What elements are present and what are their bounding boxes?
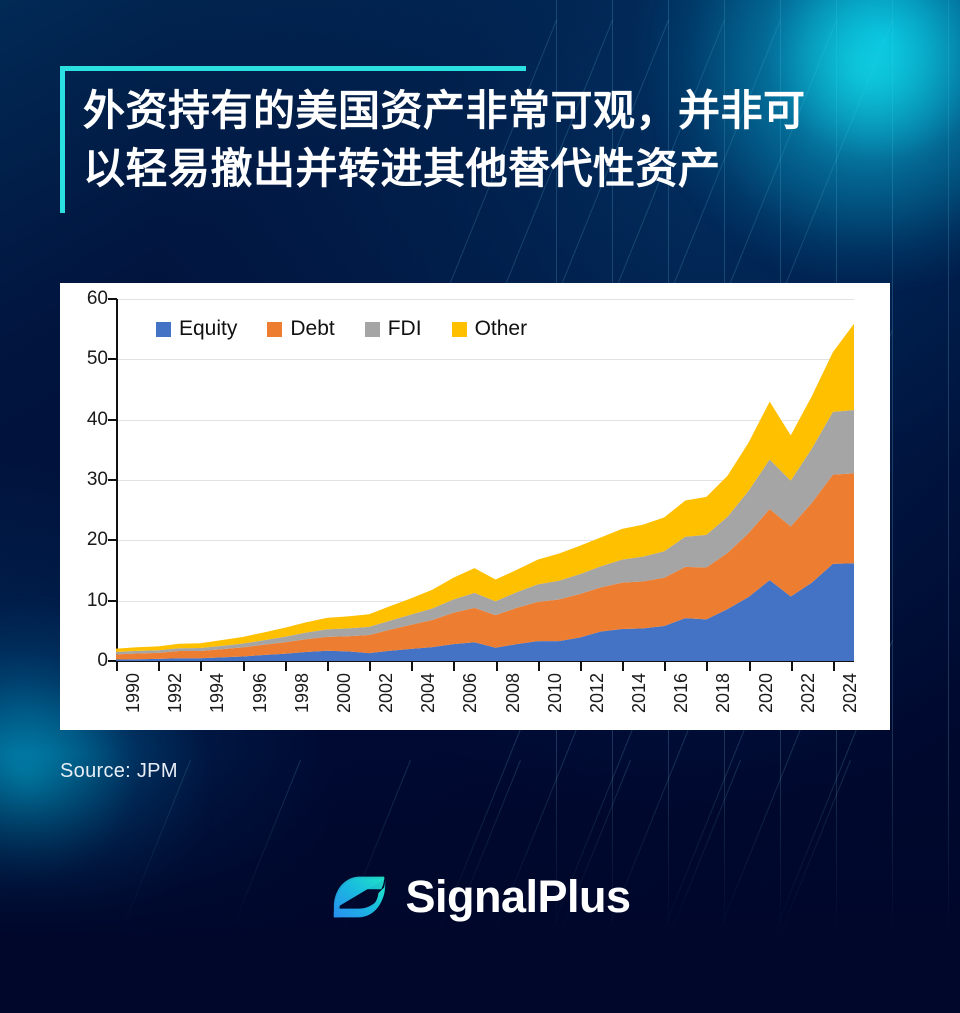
source-note: Source: JPM — [60, 760, 178, 783]
x-axis-tick — [749, 662, 751, 671]
x-axis-tick-label: 1998 — [292, 673, 313, 713]
brand-name: SignalPlus — [405, 871, 630, 923]
y-axis-tick-label: 60 — [87, 288, 108, 310]
page-title: 外资持有的美国资产非常可观，并非可 以轻易撤出并转进其他替代性资产 — [60, 66, 905, 198]
x-axis-tick — [158, 662, 160, 671]
poster-root: 外资持有的美国资产非常可观，并非可 以轻易撤出并转进其他替代性资产 Equity… — [0, 0, 960, 1013]
x-axis-labels: 1990199219941996199820002002200420062008… — [116, 673, 854, 729]
x-axis-tick — [791, 662, 793, 671]
x-axis-tick-label: 1990 — [123, 673, 144, 713]
x-axis-tick-label: 2020 — [756, 673, 777, 713]
chart-card: EquityDebtFDIOther 0102030405060 1990199… — [60, 283, 890, 730]
x-axis-tick — [453, 662, 455, 671]
x-axis-tick — [538, 662, 540, 671]
stacked-area-chart — [116, 299, 854, 661]
brand-logo: SignalPlus — [0, 866, 960, 928]
x-axis-tick-label: 1992 — [165, 673, 186, 713]
y-axis-tick-label: 10 — [87, 590, 108, 612]
x-axis-tick — [327, 662, 329, 671]
x-axis-tick-label: 2018 — [713, 673, 734, 713]
x-axis-tick-label: 2016 — [671, 673, 692, 713]
headline-block: 外资持有的美国资产非常可观，并非可 以轻易撤出并转进其他替代性资产 — [60, 66, 905, 198]
x-axis-tick — [664, 662, 666, 671]
y-axis-tick-label: 50 — [87, 348, 108, 370]
x-axis-tick-label: 2006 — [460, 673, 481, 713]
x-axis-tick-label: 1996 — [250, 673, 271, 713]
x-axis-tick — [369, 662, 371, 671]
x-axis-tick — [496, 662, 498, 671]
x-axis-tick-label: 1994 — [207, 673, 228, 713]
x-axis-tick — [706, 662, 708, 671]
x-axis-tick-label: 2004 — [418, 673, 439, 713]
x-axis-tick — [285, 662, 287, 671]
x-axis-tick — [622, 662, 624, 671]
y-axis-labels: 0102030405060 — [60, 299, 108, 661]
signalplus-wave-logo-icon — [329, 866, 391, 928]
y-axis-tick-label: 40 — [87, 409, 108, 431]
x-axis-tick-label: 2022 — [798, 673, 819, 713]
x-axis-tick-label: 2024 — [840, 673, 861, 713]
x-axis-tick — [833, 662, 835, 671]
x-axis-ticks — [116, 662, 854, 671]
x-axis-tick — [411, 662, 413, 671]
x-axis-tick-label: 2000 — [334, 673, 355, 713]
y-axis-tick-label: 0 — [97, 650, 108, 672]
x-axis-tick — [243, 662, 245, 671]
y-axis-tick-label: 20 — [87, 529, 108, 551]
x-axis-tick — [580, 662, 582, 671]
plot-area — [116, 299, 854, 661]
x-axis-tick-label: 2002 — [376, 673, 397, 713]
x-axis-tick-label: 2012 — [587, 673, 608, 713]
accent-bar-left — [60, 66, 65, 213]
x-axis-tick-label: 2014 — [629, 673, 650, 713]
x-axis-tick — [116, 662, 118, 671]
x-axis-tick-label: 2010 — [545, 673, 566, 713]
y-axis-tick-label: 30 — [87, 469, 108, 491]
accent-bar-top — [60, 66, 526, 71]
x-axis-tick-label: 2008 — [503, 673, 524, 713]
x-axis-tick — [200, 662, 202, 671]
